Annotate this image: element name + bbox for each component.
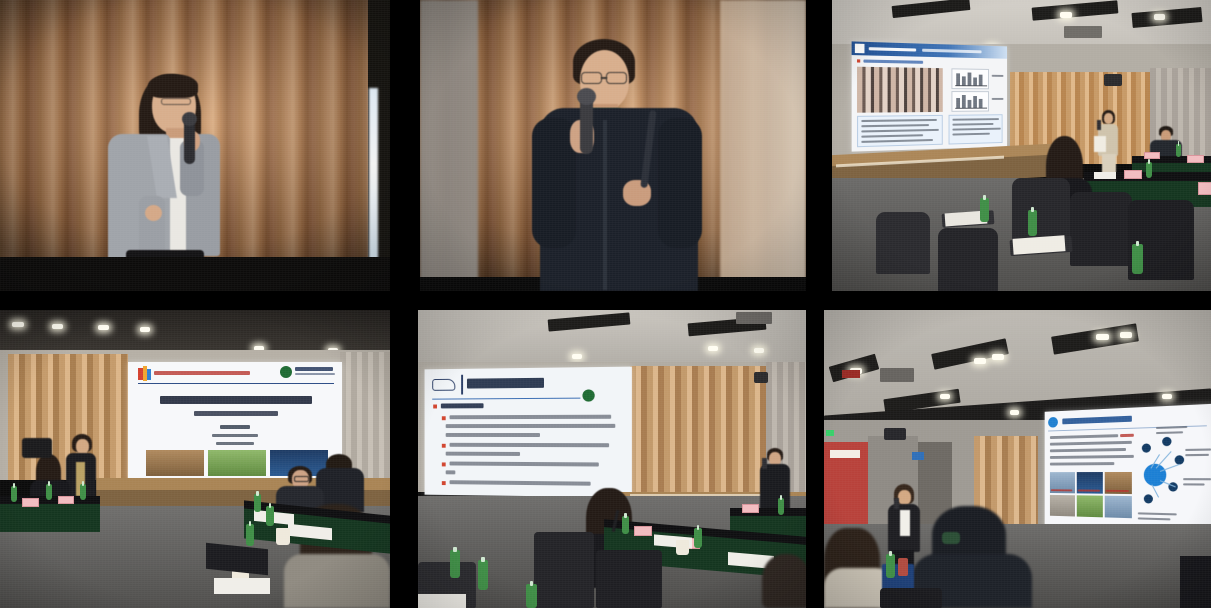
wall-right xyxy=(720,0,806,291)
head xyxy=(76,439,89,454)
slide-subtitle-line xyxy=(194,411,278,416)
banner-text-line xyxy=(154,371,250,375)
spoke-node xyxy=(1162,437,1171,446)
floor-shadow xyxy=(0,257,390,291)
bullet-2-line xyxy=(446,452,520,456)
slide-thumb-pasture xyxy=(208,450,266,476)
paper-document xyxy=(418,594,466,608)
speaker-box-icon xyxy=(884,428,906,440)
mini-chart-1 xyxy=(951,68,989,89)
slide-badge xyxy=(855,44,865,54)
water-bottle xyxy=(886,554,895,578)
water-bottle xyxy=(246,524,254,546)
chair xyxy=(596,550,662,608)
mini-chart-2 xyxy=(951,91,989,112)
led-screen xyxy=(425,367,632,498)
body-line xyxy=(1050,462,1114,465)
water-bottle xyxy=(1176,144,1181,157)
water-bottle xyxy=(694,528,702,548)
bullet-3-line xyxy=(450,462,599,467)
exit-sign-icon xyxy=(912,452,924,460)
water-bottle xyxy=(526,584,537,608)
ceiling-light xyxy=(940,394,950,399)
panel-1-scene xyxy=(0,0,390,291)
annotation-line xyxy=(1183,483,1205,486)
glasses-left xyxy=(581,72,602,84)
body-line xyxy=(1050,455,1134,459)
photo-collage xyxy=(0,0,1211,608)
slide-title-line xyxy=(1062,416,1132,425)
name-card xyxy=(1144,152,1160,159)
ceiling-light xyxy=(974,358,986,364)
speaker-box-icon xyxy=(754,372,768,383)
thumb-caption xyxy=(1106,490,1129,492)
chart-label-1 xyxy=(992,75,1004,77)
slide-textbox-2 xyxy=(949,114,1003,144)
spoke-node xyxy=(1144,494,1153,503)
photo-panel-top-left xyxy=(0,0,390,291)
body-highlight xyxy=(1120,434,1134,437)
annotation-line xyxy=(1185,454,1209,457)
light-strip xyxy=(369,88,378,278)
led-screen xyxy=(852,41,1007,151)
name-card xyxy=(742,504,759,513)
bullet-marker xyxy=(442,481,445,484)
slide-title-line xyxy=(160,396,312,404)
panel-2-scene xyxy=(420,0,806,291)
chair xyxy=(876,212,930,274)
fringe xyxy=(148,74,198,98)
water-bottle xyxy=(450,550,460,578)
university-logo-icon xyxy=(280,366,292,378)
coffee-cup xyxy=(676,540,689,555)
wall-left xyxy=(420,0,478,291)
ceiling-vent xyxy=(880,368,914,382)
annotation-line xyxy=(1185,448,1211,451)
org-subname-line xyxy=(295,373,335,375)
collar xyxy=(942,532,960,544)
name-card xyxy=(1198,182,1211,195)
ceiling-light xyxy=(572,354,582,359)
slide-3 xyxy=(852,41,1007,151)
bullet-marker xyxy=(442,416,445,419)
chair xyxy=(1070,192,1132,266)
hand-left xyxy=(145,205,162,221)
photo-panel-bottom-left xyxy=(0,310,390,608)
coffee-cup xyxy=(276,528,290,545)
ceiling-light xyxy=(1096,334,1109,340)
photo-panel-top-right xyxy=(832,0,1211,291)
ceiling-light xyxy=(754,348,764,353)
microphone-head xyxy=(577,88,596,105)
bullet-marker xyxy=(442,462,445,465)
microphone-icon xyxy=(762,458,767,469)
microphone-icon xyxy=(1097,120,1101,130)
goat-icon xyxy=(432,379,455,391)
water-bottle xyxy=(46,484,52,500)
chair xyxy=(534,532,594,608)
photo-panel-top-center xyxy=(420,0,806,291)
chair xyxy=(880,588,942,608)
water-bottle xyxy=(1146,162,1152,178)
water-bottle xyxy=(1028,210,1037,236)
ceiling-light xyxy=(1010,410,1019,415)
jacket-zip xyxy=(603,120,607,290)
ceiling-light xyxy=(1154,14,1165,20)
section-bullet xyxy=(433,405,437,409)
table-skirt-left xyxy=(0,504,100,532)
ceiling-light xyxy=(1060,12,1072,18)
spoke-node xyxy=(1142,443,1151,452)
notebook xyxy=(214,578,270,594)
name-card xyxy=(634,526,652,536)
led-screen xyxy=(128,362,342,480)
slide-task-content xyxy=(425,367,632,498)
annotation-line xyxy=(1183,478,1211,481)
chair xyxy=(1180,556,1211,608)
presenter-name-line xyxy=(220,425,250,429)
glasses-icon xyxy=(161,98,191,105)
divider xyxy=(432,398,580,400)
annotation-line xyxy=(1138,517,1171,520)
ceiling-vent xyxy=(736,312,772,324)
panel-4-scene xyxy=(0,310,390,608)
slide-title xyxy=(128,362,342,480)
name-card xyxy=(1187,155,1204,163)
ceiling-light xyxy=(1162,394,1172,399)
section-bullet xyxy=(857,59,860,62)
head xyxy=(1104,113,1113,124)
photo-panel-bottom-center xyxy=(418,310,806,608)
inner-top xyxy=(900,510,910,536)
annotation-line xyxy=(1156,431,1183,434)
divider xyxy=(138,383,334,384)
bullet-2-line xyxy=(450,443,610,447)
chart-label-2 xyxy=(992,98,1004,100)
photo-panel-bottom-right xyxy=(824,310,1211,608)
name-card xyxy=(1124,170,1142,179)
slide-thumb xyxy=(1077,495,1103,517)
panel-6-scene xyxy=(824,310,1211,608)
annotation-line xyxy=(1156,426,1187,429)
ceiling-light xyxy=(52,324,63,329)
water-bottle xyxy=(80,484,86,500)
torso xyxy=(284,554,390,608)
glasses-icon xyxy=(294,476,309,482)
panel-3-scene xyxy=(832,0,1211,291)
glasses-right xyxy=(606,72,627,84)
water-bottle xyxy=(980,198,989,222)
water-bottle xyxy=(622,516,629,534)
date-line xyxy=(216,442,254,445)
section-label-line xyxy=(863,59,923,63)
ceiling-light xyxy=(1120,332,1132,338)
bullet-1-line xyxy=(446,433,540,437)
speaker-box-icon xyxy=(1104,74,1122,86)
title-rule xyxy=(461,375,463,395)
slide-title-line xyxy=(467,378,544,389)
body-line xyxy=(1050,441,1132,446)
podium-monitor xyxy=(22,438,52,458)
foreground-head xyxy=(762,554,806,608)
slide-photo-grid xyxy=(857,67,943,113)
ceiling-light xyxy=(140,327,150,332)
slide-thumb xyxy=(1105,496,1132,519)
ceiling-accent xyxy=(842,370,860,378)
water-bottle xyxy=(11,486,17,502)
paper-held xyxy=(1094,136,1106,152)
bullet-marker xyxy=(442,444,445,447)
water-bottle xyxy=(1132,244,1143,274)
head xyxy=(898,490,911,505)
section-label-line xyxy=(441,403,484,408)
chair xyxy=(938,228,998,291)
bullet-1-line xyxy=(450,415,612,420)
exit-light-icon xyxy=(826,430,834,436)
university-logo-icon xyxy=(582,389,594,401)
water-bottle xyxy=(778,498,784,515)
ceiling-light xyxy=(708,346,718,351)
bullet-3-line xyxy=(446,470,456,474)
jacket xyxy=(760,464,790,510)
glasses-bridge xyxy=(601,77,607,79)
water-bottle xyxy=(254,494,261,512)
affiliation-line xyxy=(212,434,258,437)
water-bottle xyxy=(266,506,274,526)
banner-mark-3 xyxy=(147,369,151,380)
red-item xyxy=(898,558,908,576)
bullet-4-line xyxy=(450,480,591,485)
microphone-head xyxy=(182,112,197,126)
banner-text xyxy=(830,450,860,458)
paper-document xyxy=(1094,172,1116,179)
slide-thumb xyxy=(1050,495,1075,517)
water-bottle xyxy=(478,560,488,590)
ceiling-light xyxy=(98,325,109,330)
thumb-caption xyxy=(1051,489,1072,491)
name-card xyxy=(22,498,39,507)
ceiling-light xyxy=(12,322,24,327)
sleeve-right xyxy=(658,118,702,248)
thumb-caption xyxy=(1078,490,1100,492)
annotation-line xyxy=(1138,512,1177,515)
microphone-icon xyxy=(894,498,899,509)
connector xyxy=(1151,484,1159,497)
slide-textbox-1 xyxy=(857,115,943,147)
ceiling-vent xyxy=(1064,26,1102,38)
body-line xyxy=(1050,448,1126,452)
ceiling-light xyxy=(992,354,1004,360)
room-curtain xyxy=(630,366,766,494)
name-card xyxy=(58,496,74,504)
panel-5-scene xyxy=(418,310,806,608)
body-line xyxy=(1050,434,1118,439)
bullet-1-line xyxy=(446,424,616,428)
slide-thumb-farm xyxy=(146,450,204,476)
slide-badge-icon xyxy=(1048,417,1058,428)
org-name-line xyxy=(295,367,333,371)
